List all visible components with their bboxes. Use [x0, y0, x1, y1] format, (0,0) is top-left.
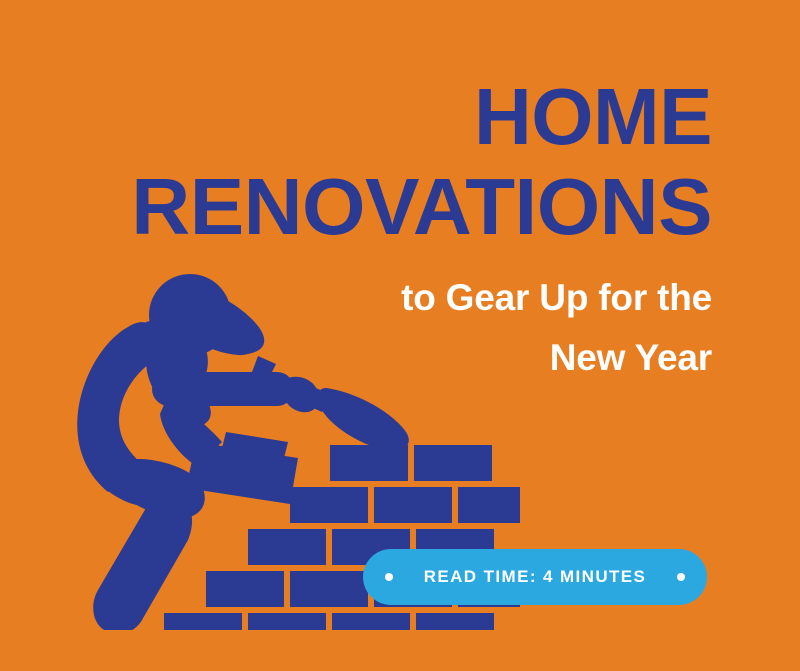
trowel-blade-icon — [318, 388, 409, 451]
headline-line-1: HOME — [72, 78, 712, 156]
worker-shin-icon — [93, 493, 192, 630]
read-time-badge[interactable]: READ TIME: 4 MINUTES — [363, 549, 707, 605]
brick — [248, 613, 326, 630]
brick — [290, 487, 368, 523]
brick — [458, 487, 520, 523]
poster-canvas: HOME RENOVATIONS to Gear Up for the New … — [0, 0, 800, 671]
headline-line-2: RENOVATIONS — [59, 168, 712, 246]
brick — [206, 571, 284, 607]
worker-hip-icon — [100, 468, 146, 506]
brick — [290, 571, 368, 607]
badge-right-dot-icon — [677, 573, 685, 581]
headline: HOME RENOVATIONS — [72, 78, 712, 247]
subtitle: to Gear Up for the New Year — [112, 268, 712, 388]
read-time-label: READ TIME: 4 MINUTES — [424, 567, 647, 587]
brick — [414, 445, 492, 481]
brick — [416, 613, 494, 630]
brick — [332, 613, 410, 630]
subtitle-line-2: New Year — [112, 328, 712, 388]
subtitle-line-1: to Gear Up for the — [112, 268, 712, 328]
badge-left-dot-icon — [385, 573, 393, 581]
brick — [374, 487, 452, 523]
brick — [164, 613, 242, 630]
brick — [330, 445, 408, 481]
brick — [248, 529, 326, 565]
